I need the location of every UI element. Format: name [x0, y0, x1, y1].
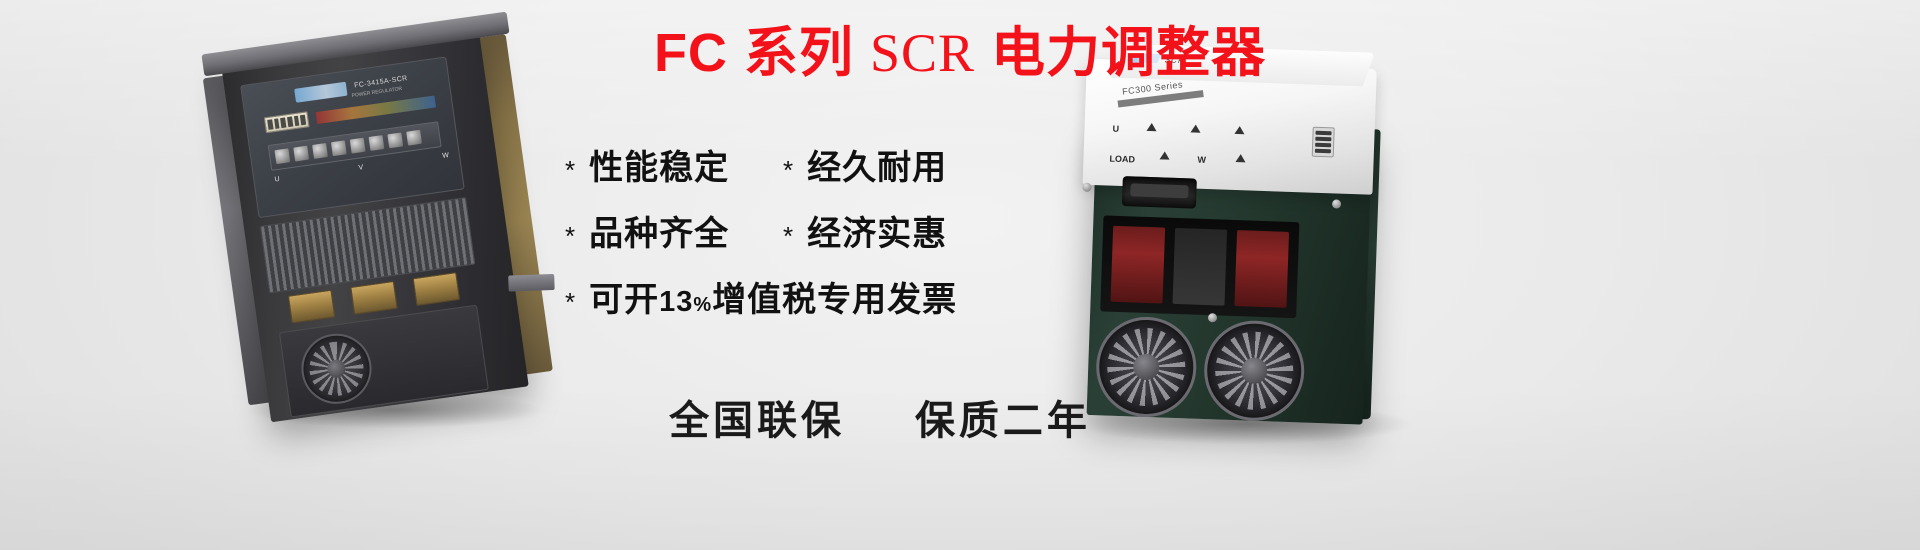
- right-unit-handle: [1122, 176, 1197, 209]
- feature-label-variety: 品种齐全: [589, 206, 729, 255]
- invoice-suffix: 增值税专用发票: [712, 280, 957, 320]
- invoice-rate: 13: [659, 286, 693, 318]
- title-series-cn: 系列: [744, 21, 854, 84]
- left-unit-indicator-strip: [316, 95, 437, 124]
- title-product-cn: 电力调整器: [991, 21, 1266, 84]
- title-fc: FC: [654, 23, 728, 83]
- left-unit-terminal-u: U: [274, 176, 280, 184]
- tagline-nationwide-warranty: 全国联保: [669, 398, 845, 444]
- asterisk-bullet-icon: *: [565, 223, 575, 249]
- right-unit-load-label: LOAD: [1109, 154, 1135, 165]
- right-unit-cooling-fan-2: [1202, 319, 1305, 422]
- right-unit-indicator-block: [1312, 127, 1335, 158]
- feature-label-invoice: 可开13%增值税专用发票: [589, 272, 957, 321]
- banner-tagline: 全国联保 保质二年: [600, 388, 1160, 446]
- left-unit-mounting-bracket: [508, 274, 555, 292]
- product-image-right: SCR FC300 Series U LOAD W: [1068, 33, 1401, 434]
- feature-row-1: * 性能稳定 * 经久耐用: [565, 140, 995, 189]
- left-unit-dip-switch: [264, 111, 310, 133]
- banner-title: FC 系列 SCR 电力调整器: [0, 8, 1920, 87]
- right-unit-arrow-5-icon: [1235, 154, 1245, 162]
- right-unit-screw-1: [1082, 183, 1091, 192]
- tagline-two-year-guarantee: 保质二年: [915, 398, 1091, 444]
- feature-label-performance: 性能稳定: [589, 140, 729, 189]
- invoice-prefix: 可开: [589, 280, 659, 320]
- asterisk-bullet-icon: *: [783, 157, 793, 183]
- invoice-rate-sign: %: [693, 294, 712, 316]
- feature-row-3: * 可开13%增值税专用发票: [565, 272, 995, 321]
- feature-label-economical: 经济实惠: [807, 206, 947, 255]
- title-scr: SCR: [870, 23, 975, 83]
- feature-list: * 性能稳定 * 经久耐用 * 品种齐全 * 经济实惠 * 可开13%增值税专用…: [565, 140, 995, 338]
- right-unit-arrow-2-icon: [1190, 124, 1200, 132]
- left-unit-terminal-w: W: [442, 152, 450, 160]
- feature-item-performance: * 性能稳定: [565, 140, 783, 189]
- right-unit-arrow-4-icon: [1160, 151, 1170, 159]
- right-unit-component-window: [1100, 215, 1299, 318]
- right-unit-arrow-1-icon: [1147, 123, 1157, 131]
- feature-row-2: * 品种齐全 * 经济实惠: [565, 206, 995, 255]
- asterisk-bullet-icon: *: [565, 289, 575, 315]
- feature-item-economical: * 经济实惠: [783, 206, 947, 255]
- promotional-banner: FC-3415A-SCR POWER REGULATOR U V W: [0, 0, 1920, 550]
- right-unit-phase-w: W: [1197, 155, 1206, 165]
- right-unit-arrow-3-icon: [1234, 126, 1244, 134]
- right-unit-phase-u: U: [1112, 124, 1119, 134]
- feature-item-durable: * 经久耐用: [783, 140, 947, 189]
- right-unit-terminal-markings: U LOAD W: [1111, 118, 1339, 184]
- feature-item-invoice: * 可开13%增值税专用发票: [565, 272, 957, 321]
- left-unit-cooling-fan: [297, 329, 376, 408]
- feature-item-variety: * 品种齐全: [565, 206, 783, 255]
- product-image-left: FC-3415A-SCR POWER REGULATOR U V W: [221, 30, 529, 423]
- asterisk-bullet-icon: *: [783, 223, 793, 249]
- asterisk-bullet-icon: *: [565, 157, 575, 183]
- left-unit-terminal-v: V: [358, 164, 364, 172]
- feature-label-durable: 经久耐用: [807, 140, 947, 189]
